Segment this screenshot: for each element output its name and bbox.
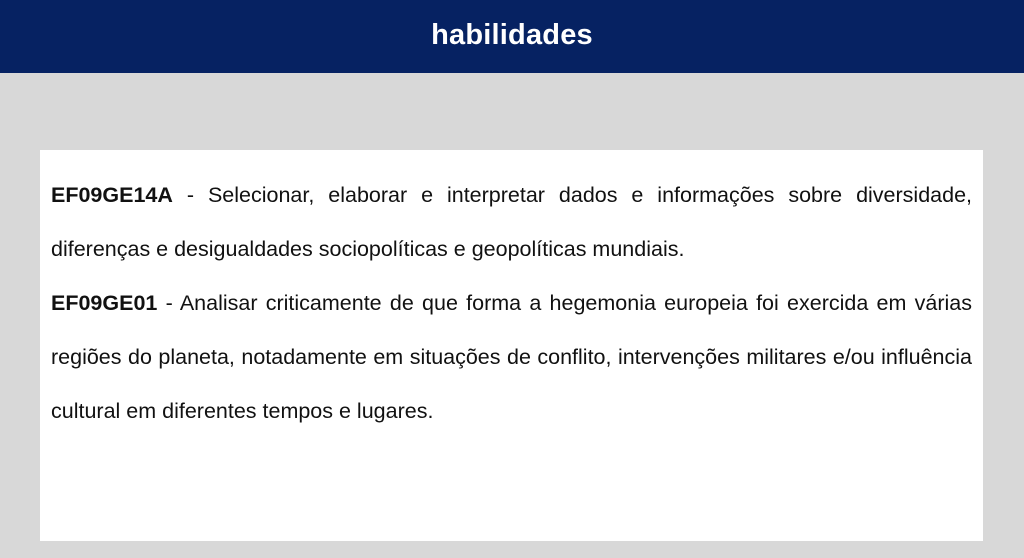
skill-item: EF09GE14A - Selecionar, elaborar e inter… bbox=[51, 168, 972, 276]
page-root: habilidades EF09GE14A - Selecionar, elab… bbox=[0, 0, 1024, 558]
skill-code: EF09GE01 bbox=[51, 291, 157, 315]
page-title: habilidades bbox=[431, 21, 593, 50]
header-bar: habilidades bbox=[0, 0, 1024, 73]
skill-item: EF09GE01 - Analisar criticamente de que … bbox=[51, 276, 972, 438]
skill-description: Analisar criticamente de que forma a heg… bbox=[51, 291, 972, 423]
skill-code: EF09GE14A bbox=[51, 183, 173, 207]
skill-separator: - bbox=[173, 183, 208, 207]
skills-card: EF09GE14A - Selecionar, elaborar e inter… bbox=[40, 150, 983, 541]
skill-separator: - bbox=[157, 291, 179, 315]
